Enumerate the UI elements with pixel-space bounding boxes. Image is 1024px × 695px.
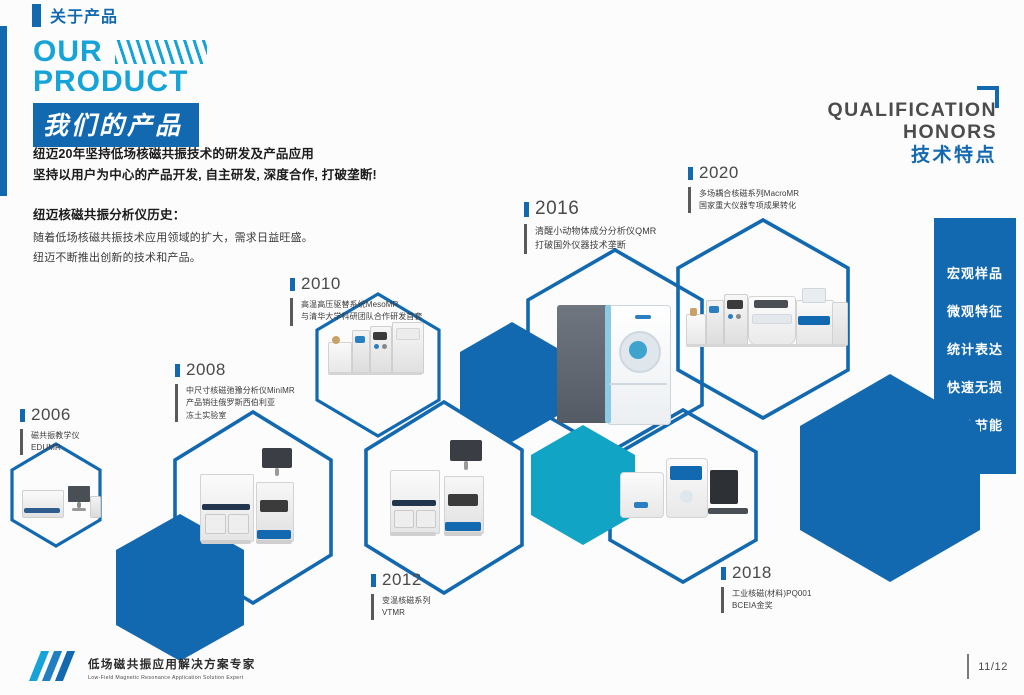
product-image-2010 — [328, 320, 428, 382]
timeline-marker-2020: 2020 多场耦合核磁系列MacroMR 国家重大仪器专项成果转化 — [688, 163, 799, 213]
marker-desc-line: 磁共振教学仪 — [31, 430, 80, 442]
marker-rule — [688, 187, 691, 213]
marker-desc-line: 多场耦合核磁系列MacroMR — [699, 188, 799, 200]
marker-desc-line: 工业核磁(材料)PQ001 — [732, 588, 812, 600]
marker-tick-icon — [175, 364, 180, 377]
slide-canvas: 关于产品 OUR PRODUCT 我们的产品 纽迈20年坚持低场核磁共振技术的研… — [0, 0, 1024, 695]
marker-desc-line: 国家重大仪器专项成果转化 — [699, 200, 799, 212]
marker-desc-line: 冻土实验室 — [186, 410, 295, 422]
marker-desc-line: 产品销往俄罗斯西伯利亚 — [186, 397, 295, 409]
marker-year: 2008 — [186, 360, 226, 380]
footer-slogan-en: Low-Field Magnetic Resonance Application… — [88, 675, 256, 681]
marker-desc-line: 中尺寸核磁弛豫分析仪MiniMR — [186, 385, 295, 397]
marker-year: 2018 — [732, 563, 772, 583]
marker-tick-icon — [721, 567, 726, 580]
marker-year: 2016 — [535, 198, 579, 220]
footer-slogan-cn: 低场磁共振应用解决方案专家 — [88, 659, 256, 673]
marker-rule — [175, 384, 178, 422]
timeline-marker-2012: 2012 变温核磁系列 VTMR — [371, 570, 431, 620]
marker-rule — [721, 587, 724, 613]
brand-slashes-icon — [35, 651, 79, 681]
marker-year: 2012 — [382, 570, 422, 590]
marker-tick-icon — [371, 574, 376, 587]
marker-desc-line: 与清华大学科研团队合作研发首套 — [301, 311, 423, 323]
marker-desc-line: BCEIA金奖 — [732, 600, 812, 612]
timeline-marker-2016: 2016 清醒小动物体成分分析仪QMR 打破国外仪器技术垄断 — [524, 198, 656, 254]
marker-tick-icon — [20, 409, 25, 422]
marker-rule — [20, 429, 23, 455]
product-image-2020 — [686, 288, 846, 360]
footer-brand: 低场磁共振应用解决方案专家 Low-Field Magnetic Resonan… — [35, 651, 256, 681]
marker-rule — [290, 298, 293, 326]
marker-year: 2006 — [31, 405, 71, 425]
timeline-marker-2008: 2008 中尺寸核磁弛豫分析仪MiniMR 产品销往俄罗斯西伯利亚 冻土实验室 — [175, 360, 295, 422]
solid-hex-mid — [460, 322, 564, 442]
product-image-2006 — [22, 482, 100, 524]
marker-tick-icon — [290, 278, 295, 291]
marker-desc-line: 高温高压驱替系统MesoMR — [301, 299, 423, 311]
product-image-2012 — [390, 440, 502, 548]
marker-rule — [371, 594, 374, 620]
marker-tick-icon — [688, 167, 693, 180]
timeline-marker-2006: 2006 磁共振教学仪 EDUMR — [20, 405, 80, 455]
product-image-2018 — [620, 452, 750, 522]
marker-rule — [524, 224, 527, 254]
marker-desc-line: 打破国外仪器技术垄断 — [535, 239, 656, 253]
solid-hex-right — [800, 374, 980, 582]
marker-desc-line: 清醒小动物体成分分析仪QMR — [535, 225, 656, 239]
marker-tick-icon — [524, 202, 529, 217]
hexagon-network — [0, 0, 1024, 695]
marker-desc-line: 变温核磁系列 — [382, 595, 431, 607]
page-rule — [967, 654, 969, 679]
page-number-text: 11/12 — [978, 661, 1008, 673]
timeline-marker-2018: 2018 工业核磁(材料)PQ001 BCEIA金奖 — [721, 563, 812, 613]
product-image-2008 — [200, 448, 310, 553]
marker-desc-line: VTMR — [382, 607, 431, 619]
marker-desc-line: EDUMR — [31, 442, 80, 454]
marker-year: 2010 — [301, 274, 341, 294]
timeline-marker-2010: 2010 高温高压驱替系统MesoMR 与清华大学科研团队合作研发首套 — [290, 274, 423, 326]
marker-year: 2020 — [699, 163, 739, 183]
product-image-2016 — [557, 305, 673, 427]
page-number: 11/12 — [967, 654, 1008, 679]
